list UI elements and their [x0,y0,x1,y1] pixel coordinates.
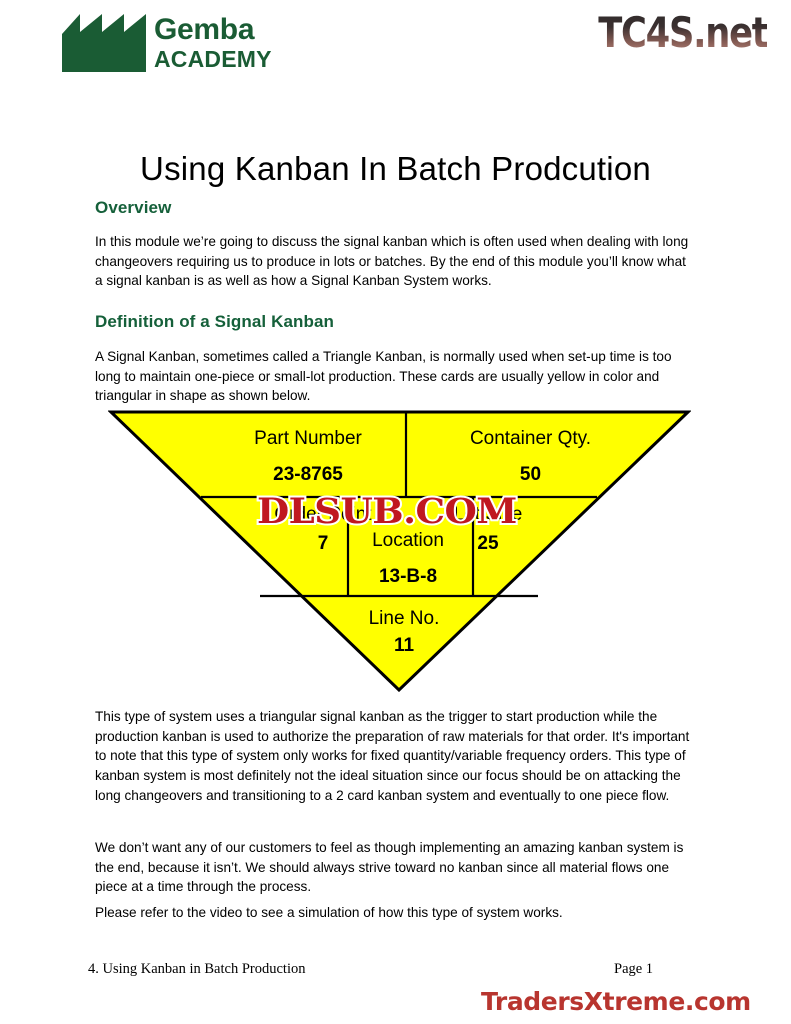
page-title: Using Kanban In Batch Prodcution [0,150,791,188]
dlsub-watermark: DLSUB.COM [257,491,517,532]
kanban-label-part-number: Part Number [218,428,398,450]
logo-brand-primary: Gemba [154,15,272,45]
page-header: Gemba ACADEMY TC4S.net [0,0,791,100]
tc4s-watermark: TC4S.net [598,8,767,57]
kanban-value-container-qty: 50 [438,464,623,486]
section-text-definition: A Signal Kanban, sometimes called a Tria… [95,347,696,406]
logo-brand-secondary: ACADEMY [154,48,272,71]
gemba-academy-logo: Gemba ACADEMY [62,14,272,72]
body-paragraph-4: We don’t want any of our customers to fe… [95,838,696,897]
kanban-value-line-no: 11 [344,635,464,657]
logo-wordmark: Gemba ACADEMY [154,14,272,71]
kanban-value-part-number: 23-8765 [218,464,398,486]
kanban-label-container-qty: Container Qty. [438,428,623,450]
section-heading-overview: Overview [95,198,696,218]
tradersxtreme-watermark: TradersXtreme.com [481,987,751,1016]
kanban-label-line-no: Line No. [344,608,464,630]
body-paragraph-3: This type of system uses a triangular si… [95,707,696,806]
body-paragraph-5: Please refer to the video to see a simul… [95,903,696,923]
factory-sawtooth-icon [62,14,146,72]
signal-kanban-triangle-figure: Part Number 23-8765 Container Qty. 50 Or… [108,409,691,692]
page-footer: 4. Using Kanban in Batch Production Page… [0,955,791,1024]
kanban-value-location: 13-B-8 [353,566,463,588]
footer-page-number: Page 1 [614,961,653,978]
section-heading-definition: Definition of a Signal Kanban [95,312,696,332]
section-text-overview: In this module we’re going to discuss th… [95,232,696,291]
footer-document-reference: 4. Using Kanban in Batch Production [88,961,305,978]
kanban-label-location: Location [353,530,463,552]
